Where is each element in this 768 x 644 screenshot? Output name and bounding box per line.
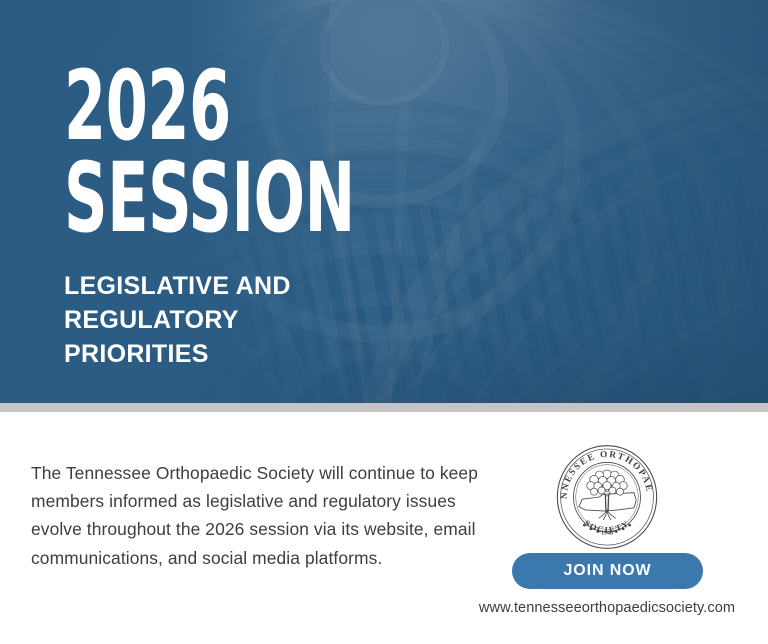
subheading-line-1: LEGISLATIVE AND bbox=[64, 269, 480, 303]
subheading-line-3: PRIORITIES bbox=[64, 337, 480, 371]
join-now-button[interactable]: JOIN NOW bbox=[512, 553, 703, 589]
body-paragraph: The Tennessee Orthopaedic Society will c… bbox=[31, 459, 481, 572]
hero-headline: 2026 SESSION bbox=[64, 62, 355, 243]
subheading-line-2: REGULATORY bbox=[64, 303, 480, 337]
society-seal-logo: TENNESSEE ORTHOPAEDIC SOCIETY bbox=[553, 443, 661, 551]
hero-subheading: LEGISLATIVE AND REGULATORY PRIORITIES bbox=[64, 269, 480, 371]
section-divider bbox=[0, 403, 768, 412]
hero-banner: 2026 SESSION LEGISLATIVE AND REGULATORY … bbox=[0, 0, 768, 403]
headline-session: SESSION bbox=[64, 154, 355, 242]
website-url[interactable]: www.tennesseeorthopaedicsociety.com bbox=[462, 600, 752, 616]
lower-content-section: The Tennessee Orthopaedic Society will c… bbox=[0, 412, 768, 644]
poster-graphic: 2026 SESSION LEGISLATIVE AND REGULATORY … bbox=[0, 0, 768, 644]
hero-text-block: 2026 SESSION LEGISLATIVE AND REGULATORY … bbox=[64, 62, 480, 371]
headline-year: 2026 bbox=[64, 62, 355, 150]
seal-year: 1948 bbox=[601, 530, 613, 536]
